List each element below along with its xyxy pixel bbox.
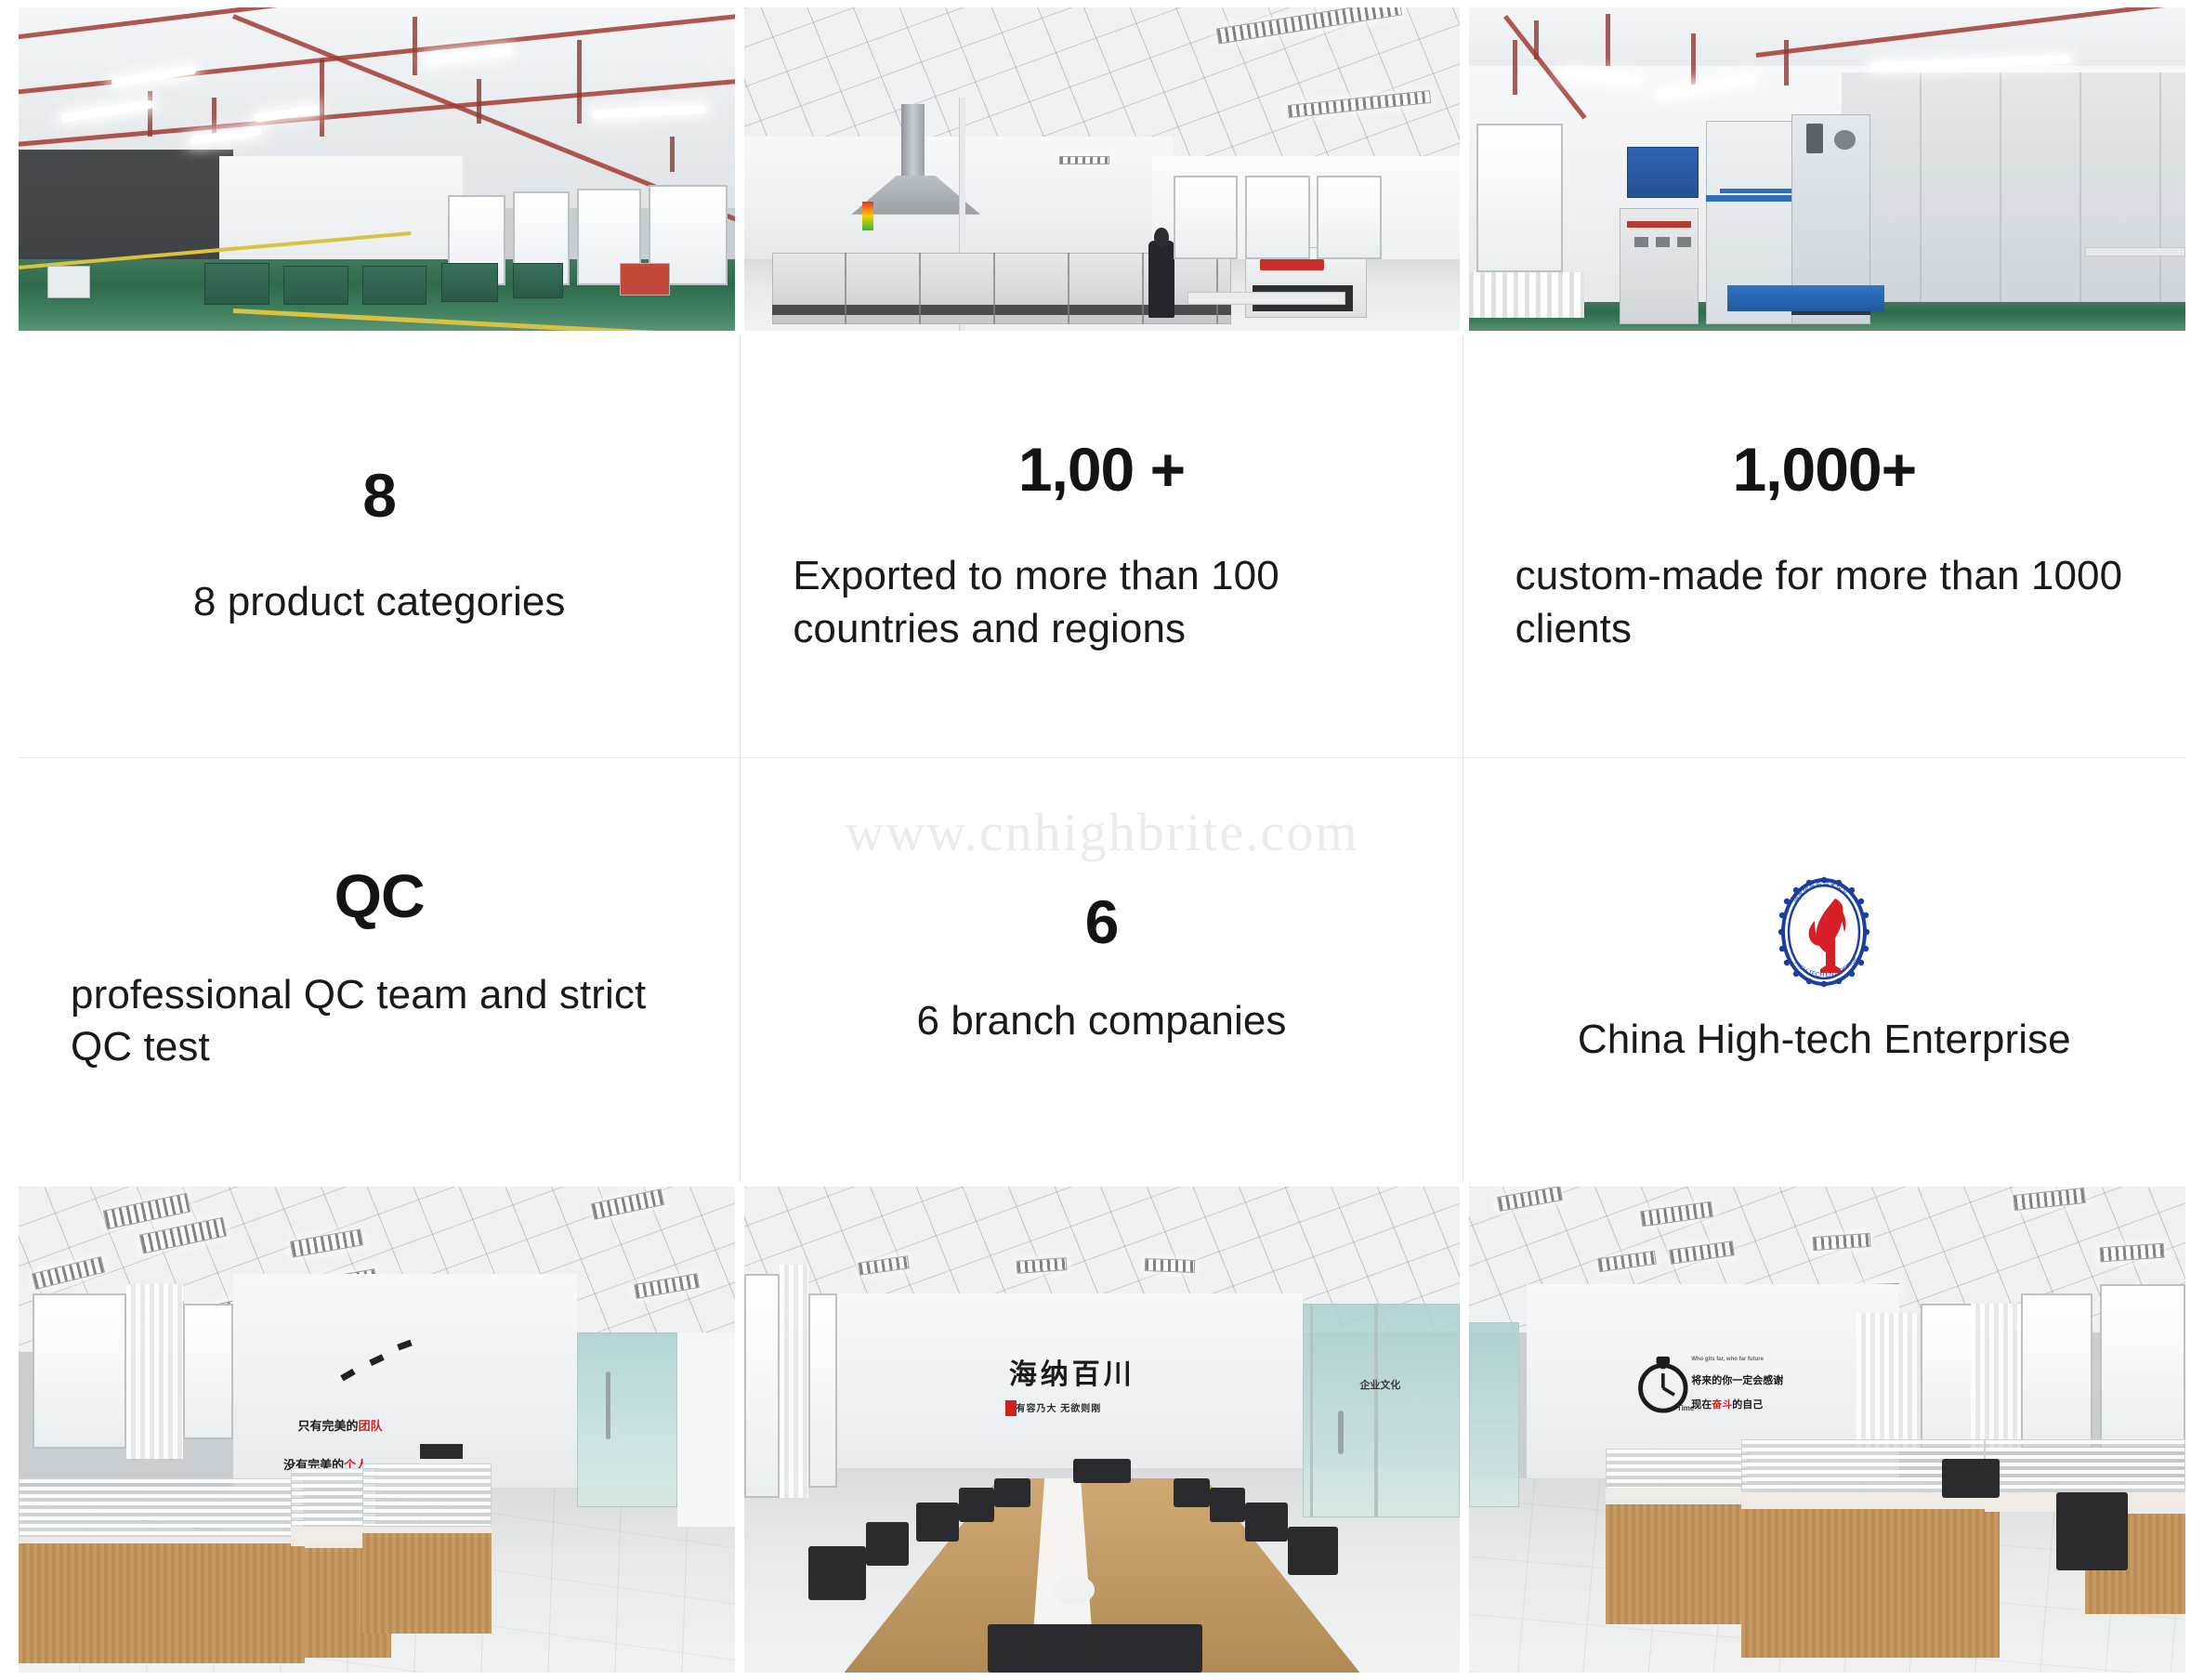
wallart-line1-accent: 团队 — [359, 1419, 383, 1433]
photo-reflow-oven-line — [744, 7, 1461, 331]
stat-description: 6 branch companies — [793, 995, 1410, 1047]
stat-description: Exported to more than 100 countries and … — [793, 550, 1410, 655]
stat-value: QC — [71, 865, 688, 926]
stat-value: 6 — [793, 891, 1410, 952]
stat-value: 1,00 + — [793, 439, 1410, 500]
photo-office-cubicles: 只有完美的团队 没有完美的个人 — [19, 1187, 735, 1673]
top-photo-row — [19, 7, 2185, 331]
china-high-tech-enterprise-logo: 国家级高新技术企业 HIGH-TECH ENTERPRISE — [1768, 873, 1880, 991]
stat-value: 8 — [71, 465, 688, 526]
wallart-line1: 只有完美的 — [298, 1419, 359, 1433]
stat-description: China High-tech Enterprise — [1578, 1014, 2071, 1066]
bottom-photo-row: 只有完美的团队 没有完美的个人 — [19, 1187, 2185, 1673]
stat-description: custom-made for more than 1000 clients — [1515, 550, 2133, 655]
stat-value: 1,000+ — [1515, 439, 2133, 500]
stat-cell-product-categories: 8 8 product categories — [19, 336, 741, 758]
wallart-calligraphy: 海纳百川 — [1009, 1361, 1135, 1389]
company-profile-page: 8 8 product categories 1,00 + Exported t… — [0, 0, 2204, 1680]
stat-cell-custom-clients: 1,000+ custom-made for more than 1000 cl… — [1463, 336, 2185, 758]
company-stats-grid: 8 8 product categories 1,00 + Exported t… — [19, 336, 2185, 1180]
stat-cell-high-tech-enterprise: 国家级高新技术企业 HIGH-TECH ENTERPRISE China Hig… — [1463, 758, 2185, 1180]
photo-factory-workshop — [19, 7, 735, 331]
stat-description: 8 product categories — [71, 576, 688, 628]
stat-cell-countries-exported: 1,00 + Exported to more than 100 countri… — [741, 336, 1463, 758]
photo-meeting-room: 企业文化 海纳百川 有容乃大 无欲则刚 — [744, 1187, 1461, 1673]
photo-coating-equipment — [1469, 7, 2185, 331]
stat-cell-qc-team: QC professional QC team and strict QC te… — [19, 758, 741, 1180]
photo-office-workstations: Time Who gits far, who far future 将来的你一定… — [1469, 1187, 2185, 1673]
stat-cell-branch-companies: 6 6 branch companies — [741, 758, 1463, 1180]
stat-description: professional QC team and strict QC test — [71, 969, 688, 1074]
